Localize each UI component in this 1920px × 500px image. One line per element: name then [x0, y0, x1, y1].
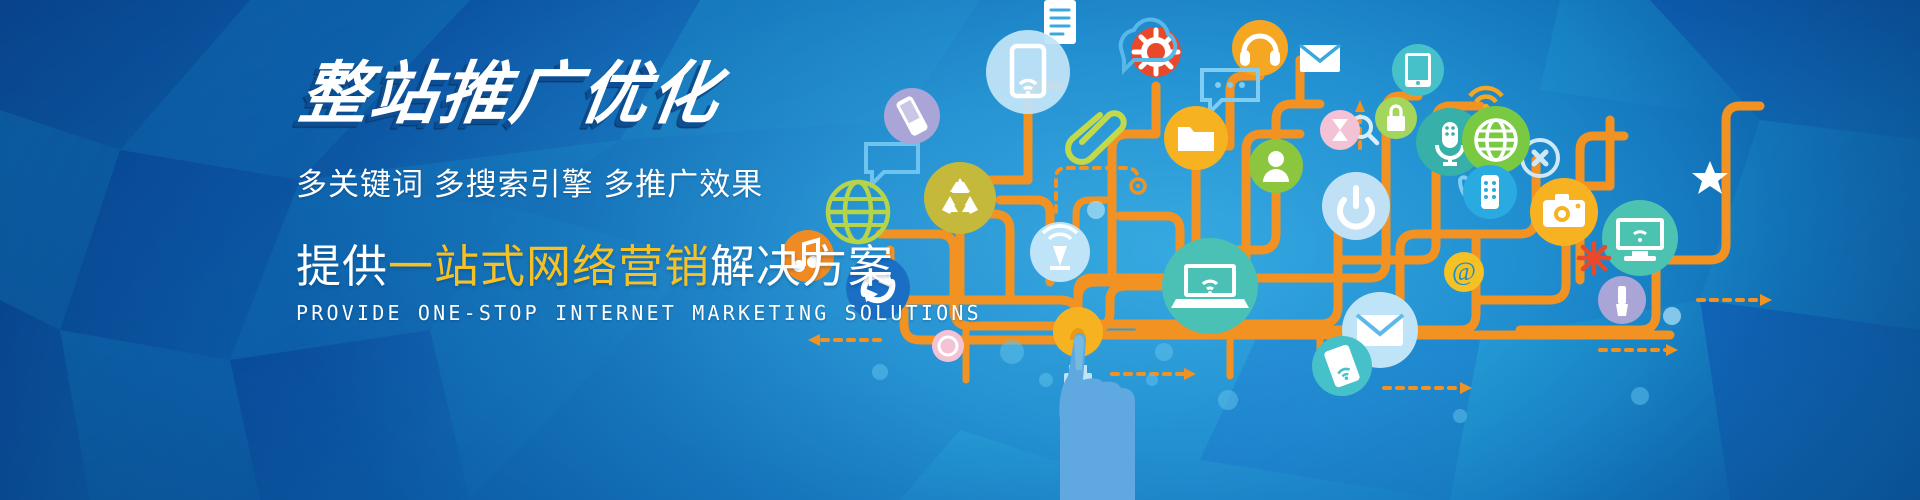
laptop-wifi-icon	[1162, 238, 1258, 334]
folder-icon	[1164, 106, 1228, 170]
world-globe-icon	[1462, 106, 1530, 174]
lock-icon	[1375, 97, 1417, 139]
hourglass-icon	[1320, 110, 1360, 150]
camera-icon	[1530, 178, 1598, 246]
banner-copy: 整站推广优化 多关键词 多搜索引擎 多推广效果 提供一站式网络营销解决方案 PR…	[296, 60, 1076, 325]
headline-wrapper: 整站推广优化	[296, 60, 1076, 144]
page-title: 整站推广优化	[296, 60, 1086, 128]
remote-device-icon	[1463, 165, 1517, 219]
svg-text:@: @	[1452, 257, 1476, 286]
brush-icon	[1598, 276, 1646, 324]
tagline-highlight: 一站式网络营销	[388, 241, 710, 292]
tagline-tail: 解决方案	[710, 241, 894, 292]
feature-subtitle: 多关键词 多搜索引擎 多推广效果	[296, 166, 1076, 203]
headphones-icon	[1232, 20, 1288, 76]
user-profile-icon	[1249, 139, 1303, 193]
snowflake-icon	[1579, 243, 1609, 273]
promotional-banner: .bn{fill:none;stroke:#f29222;stroke-widt…	[0, 0, 1920, 500]
tagline: 提供一站式网络营销解决方案	[296, 241, 1076, 293]
monitor-icon	[1602, 200, 1678, 276]
english-tagline: PROVIDE ONE-STOP INTERNET MARKETING SOLU…	[296, 301, 1076, 325]
tablet-icon	[1392, 44, 1444, 96]
at-sign-icon: @	[1444, 252, 1484, 292]
tagline-lead: 提供	[296, 241, 388, 292]
pin-icon	[932, 330, 964, 362]
power-button-icon	[1322, 172, 1390, 240]
decorative-bubbles	[872, 340, 1649, 423]
arrow-marker	[1131, 179, 1145, 193]
envelope-icon	[1300, 45, 1340, 72]
